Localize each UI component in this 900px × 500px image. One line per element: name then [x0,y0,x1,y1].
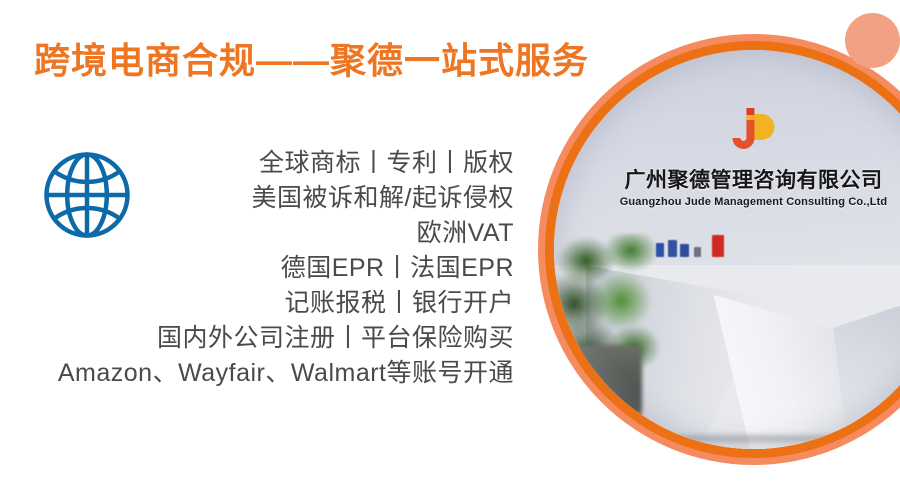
desk-item [668,240,677,258]
company-name-en: Guangzhou Jude Management Consulting Co.… [570,196,900,208]
company-logo-block: 广州聚德管理咨询有限公司 Guangzhou Jude Management C… [570,102,900,208]
desk-item [694,247,701,258]
plant-pot [578,345,642,425]
company-photo-circle: 广州聚德管理咨询有限公司 Guangzhou Jude Management C… [538,34,900,465]
service-line: 德国EPR丨法国EPR [0,251,514,286]
service-line: 美国被诉和解/起诉侵权 [0,181,514,216]
service-line: 记账报税丨银行开户 [0,286,514,321]
desk-items [654,234,742,258]
peach-accent-circle [845,13,900,68]
desk-item [656,243,665,258]
service-line: Amazon、Wayfair、Walmart等账号开通 [0,356,514,391]
poster-canvas: 广州聚德管理咨询有限公司 Guangzhou Jude Management C… [0,0,900,500]
photo-disc: 广州聚德管理咨询有限公司 Guangzhou Jude Management C… [554,50,900,449]
service-line: 全球商标丨专利丨版权 [0,146,514,181]
desk-item [680,244,689,258]
desk-item [712,235,724,258]
company-name-cn: 广州聚德管理咨询有限公司 [570,164,900,194]
jd-monogram-logo [721,102,785,158]
service-line: 国内外公司注册丨平台保险购买 [0,321,514,356]
page-title: 跨境电商合规——聚德一站式服务 [34,41,589,81]
service-list: 全球商标丨专利丨版权 美国被诉和解/起诉侵权 欧洲VAT 德国EPR丨法国EPR… [0,146,514,391]
service-line: 欧洲VAT [0,216,514,251]
desk-shadow [610,436,873,445]
